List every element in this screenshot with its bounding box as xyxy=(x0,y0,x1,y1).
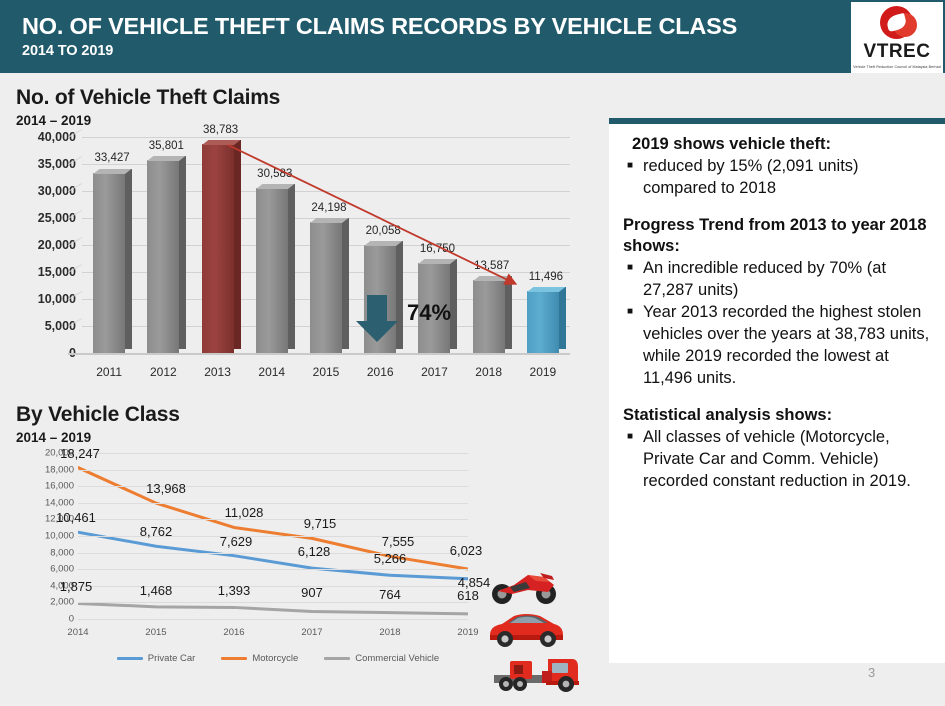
legend-swatch-icon xyxy=(221,657,247,660)
bar-chart-bar xyxy=(147,160,179,353)
insights-spacer xyxy=(623,200,931,215)
line-chart-gridline xyxy=(78,586,468,587)
bar-value-label: 33,427 xyxy=(95,152,130,164)
page-subtitle: 2014 TO 2019 xyxy=(22,43,851,59)
bar-chart-baseline xyxy=(68,353,570,355)
bar-chart-gridline xyxy=(82,137,570,138)
line-value-label: 7,629 xyxy=(220,534,253,549)
line-chart-gridline xyxy=(78,503,468,504)
line-chart-y-tick: 6,000 xyxy=(50,564,74,575)
bar-chart-y-tick: 20,000 xyxy=(38,238,76,252)
line-value-label: 13,968 xyxy=(146,481,186,496)
page-header: NO. OF VEHICLE THEFT CLAIMS RECORDS BY V… xyxy=(0,0,945,73)
bar-chart-subtitle: 2014 – 2019 xyxy=(16,113,586,128)
percent-reduction-label: 74% xyxy=(407,300,451,326)
insights-bullet-text: An incredible reduced by 70% (at 27,287 … xyxy=(643,258,931,302)
legend-label: Motorcycle xyxy=(252,653,298,664)
line-value-label: 8,762 xyxy=(140,524,173,539)
bar-value-label: 16,750 xyxy=(420,243,455,255)
bar-chart-y-tick: 15,000 xyxy=(38,265,76,279)
bar-chart-bar xyxy=(527,291,559,353)
line-chart-gridline xyxy=(78,553,468,554)
line-value-label: 5,266 xyxy=(374,551,407,566)
line-chart-series-motorcycle xyxy=(78,468,468,569)
bar-chart-y-tick: 25,000 xyxy=(38,211,76,225)
bar-chart-x-tick: 2019 xyxy=(530,365,557,379)
bar-chart-x-tick: 2016 xyxy=(367,365,394,379)
insights-bullet: ■All classes of vehicle (Motorcycle, Pri… xyxy=(623,427,931,493)
line-value-label: 1,393 xyxy=(218,583,251,598)
bar-chart-y-tick: 35,000 xyxy=(38,157,76,171)
legend-item[interactable]: Commercial Vehicle xyxy=(324,653,439,664)
insights-bullet: ■Year 2013 recorded the highest stolen v… xyxy=(623,302,931,390)
line-chart-x-tick: 2016 xyxy=(223,627,244,638)
line-chart-y-tick: 18,000 xyxy=(45,464,74,475)
bullet-square-icon: ■ xyxy=(623,302,643,390)
insights-content: 2019 shows vehicle theft:■reduced by 15%… xyxy=(609,118,945,493)
header-text-group: NO. OF VEHICLE THEFT CLAIMS RECORDS BY V… xyxy=(0,14,851,58)
vtrec-emblem-icon xyxy=(869,6,925,40)
bar-chart-bar xyxy=(256,188,288,353)
line-value-label: 11,028 xyxy=(225,505,264,520)
line-chart-y-tick: 8,000 xyxy=(50,547,74,558)
line-chart-gridline xyxy=(78,470,468,471)
vehicle-images-group xyxy=(486,563,596,693)
line-chart-y-tick: 14,000 xyxy=(45,497,74,508)
line-chart-x-tick: 2019 xyxy=(457,627,478,638)
vtrec-logo: VTREC Vehicle Theft Reduction Council of… xyxy=(851,2,943,73)
legend-swatch-icon xyxy=(324,657,350,660)
bar-chart-x-tick: 2014 xyxy=(258,365,285,379)
legend-item[interactable]: Private Car xyxy=(117,653,196,664)
line-chart-block: By Vehicle Class 2014 – 2019 02,0004,000… xyxy=(16,403,591,683)
bullet-square-icon: ■ xyxy=(623,427,643,493)
insights-panel: 2019 shows vehicle theft:■reduced by 15%… xyxy=(609,118,945,663)
line-chart-series-commercial-vehicle xyxy=(78,603,468,613)
bullet-square-icon: ■ xyxy=(623,258,643,302)
line-value-label: 1,875 xyxy=(60,579,93,594)
bar-value-label: 24,198 xyxy=(311,202,346,214)
insights-heading: 2019 shows vehicle theft: xyxy=(623,134,931,155)
insights-heading: Progress Trend from 2013 to year 2018 sh… xyxy=(623,215,931,257)
insights-bullet: ■reduced by 15% (2,091 units) compared t… xyxy=(623,156,931,200)
legend-item[interactable]: Motorcycle xyxy=(221,653,298,664)
line-chart-x-tick: 2017 xyxy=(301,627,322,638)
insights-bullet: ■An incredible reduced by 70% (at 27,287… xyxy=(623,258,931,302)
insights-bullet-text: All classes of vehicle (Motorcycle, Priv… xyxy=(643,427,931,493)
line-chart-x-tick: 2015 xyxy=(145,627,166,638)
bar-chart-plot-area: 05,00010,00015,00020,00025,00030,00035,0… xyxy=(16,137,586,392)
line-value-label: 6,128 xyxy=(298,544,331,559)
line-chart-gridline xyxy=(78,569,468,570)
line-value-label: 764 xyxy=(379,587,401,602)
charts-column: No. of Vehicle Theft Claims 2014 – 2019 … xyxy=(0,73,595,706)
line-chart-gridline xyxy=(78,519,468,520)
line-value-label: 9,715 xyxy=(304,516,337,531)
bar-chart-x-tick: 2012 xyxy=(150,365,177,379)
bar-value-label: 35,801 xyxy=(149,140,184,152)
logo-tagline: Vehicle Theft Reduction Council of Malay… xyxy=(853,65,941,69)
bar-value-label: 20,058 xyxy=(366,225,401,237)
legend-label: Private Car xyxy=(148,653,196,664)
slide-number: 3 xyxy=(868,665,875,680)
line-chart-gridline xyxy=(78,486,468,487)
page-title: NO. OF VEHICLE THEFT CLAIMS RECORDS BY V… xyxy=(22,14,851,39)
bar-chart-y-tick: 5,000 xyxy=(45,319,76,333)
legend-label: Commercial Vehicle xyxy=(355,653,439,664)
line-value-label: 10,461 xyxy=(56,510,96,525)
line-chart-gridline xyxy=(78,602,468,603)
line-chart-subtitle: 2014 – 2019 xyxy=(16,430,591,445)
line-chart-x-tick: 2018 xyxy=(379,627,400,638)
line-chart-plot-area: 02,0004,0006,0008,00010,00012,00014,0001… xyxy=(16,453,591,683)
bar-chart-x-tick: 2015 xyxy=(313,365,340,379)
bar-chart-y-tick: 30,000 xyxy=(38,184,76,198)
line-value-label: 6,023 xyxy=(450,543,483,558)
bar-value-label: 30,583 xyxy=(257,168,292,180)
bar-chart-y-tick: 10,000 xyxy=(38,292,76,306)
bar-value-label: 11,496 xyxy=(529,271,563,283)
bar-chart-block: No. of Vehicle Theft Claims 2014 – 2019 … xyxy=(16,86,586,392)
bar-value-label: 38,783 xyxy=(203,124,238,136)
line-value-label: 1,468 xyxy=(140,583,173,598)
line-chart-gridline xyxy=(78,453,468,454)
bar-chart-bar xyxy=(202,144,234,353)
insights-bullet-text: Year 2013 recorded the highest stolen ve… xyxy=(643,302,931,390)
bar-chart-x-tick: 2018 xyxy=(475,365,502,379)
bar-chart-bar xyxy=(473,280,505,353)
insights-panel-accent-bar xyxy=(609,118,945,124)
line-chart-gridline xyxy=(78,619,468,620)
bar-value-label: 13,587 xyxy=(474,260,509,272)
line-chart-y-tick: 0 xyxy=(69,614,74,625)
line-chart-y-tick: 16,000 xyxy=(45,481,74,492)
insights-bullet-text: reduced by 15% (2,091 units) compared to… xyxy=(643,156,931,200)
line-value-label: 7,555 xyxy=(382,534,415,549)
bar-chart-bar xyxy=(310,222,342,353)
truck-image xyxy=(486,651,586,695)
bar-chart-x-tick: 2017 xyxy=(421,365,448,379)
bar-chart-x-tick: 2013 xyxy=(204,365,231,379)
line-value-label: 618 xyxy=(457,588,479,603)
bar-chart-title: No. of Vehicle Theft Claims xyxy=(16,86,586,110)
car-image xyxy=(486,609,566,647)
insights-spacer xyxy=(623,390,931,405)
bullet-square-icon: ■ xyxy=(623,156,643,200)
line-chart-x-tick: 2014 xyxy=(67,627,88,638)
bar-chart-bar xyxy=(93,173,125,354)
logo-wordmark: VTREC xyxy=(864,41,931,63)
line-chart-legend: Private CarMotorcycleCommercial Vehicle xyxy=(78,653,478,664)
legend-swatch-icon xyxy=(117,657,143,660)
bar-chart-bars: 33,42735,80138,78330,58324,19820,05816,7… xyxy=(82,137,570,353)
line-chart-y-tick: 10,000 xyxy=(45,531,74,542)
motorcycle-image xyxy=(488,563,560,605)
line-value-label: 18,247 xyxy=(60,446,100,461)
bar-chart-y-tick: 40,000 xyxy=(38,130,76,144)
bar-chart-x-tick: 2011 xyxy=(96,365,122,379)
line-value-label: 907 xyxy=(301,585,323,600)
insights-heading: Statistical analysis shows: xyxy=(623,405,931,426)
line-chart-y-tick: 2,000 xyxy=(50,597,74,608)
down-arrow-icon xyxy=(356,295,398,342)
line-chart-title: By Vehicle Class xyxy=(16,403,591,427)
